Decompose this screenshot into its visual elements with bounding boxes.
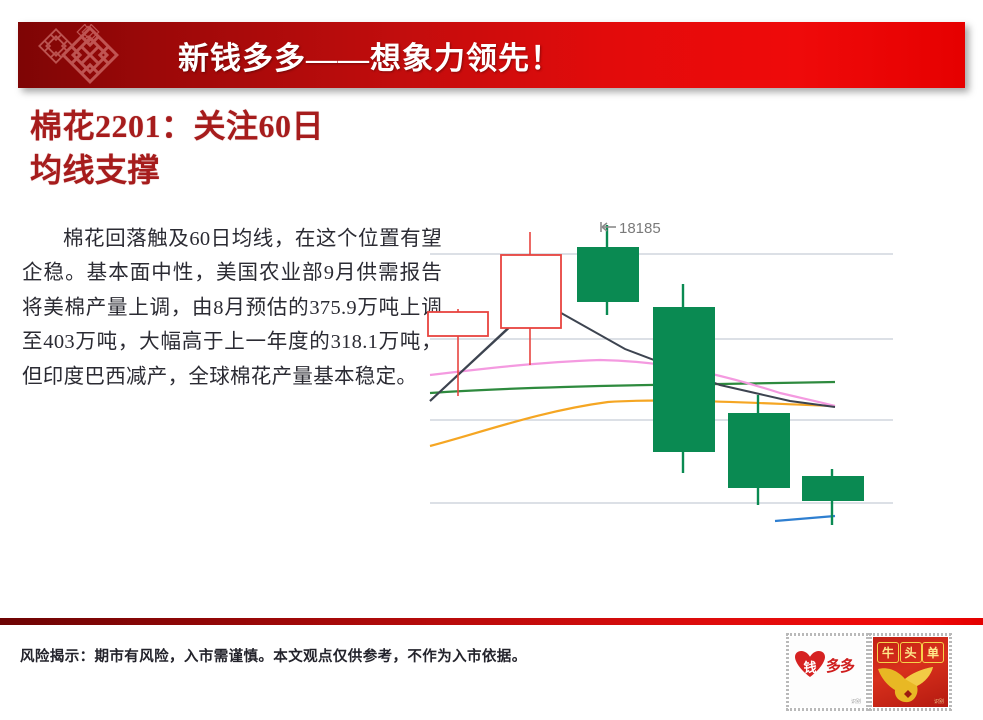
qr-left-corner: 识别 [851, 698, 861, 705]
risk-disclaimer: 风险揭示：期市有风险，入市需谨慎。本文观点仅供参考，不作为入市依据。 [20, 645, 527, 666]
chart-svg: 18185 [420, 185, 980, 535]
slide-page: 新钱多多——想象力领先！ 棉花2201：关注60日 均线支撑 棉花回落触及60日… [0, 0, 983, 720]
page-title-line1: 棉花2201：关注60日 [30, 104, 450, 148]
candle-1 [428, 309, 488, 396]
qr-qiandouduo[interactable]: 钱 多多 识别 [786, 633, 869, 711]
chinese-knot-diamond-logo [32, 24, 152, 86]
qr-right-corner: 识别 [934, 698, 944, 705]
qr-right-char-2: 单 [922, 642, 944, 663]
candle-6 [802, 469, 864, 525]
qr-left-text: 多多 [826, 655, 854, 676]
body-paragraph: 棉花回落触及60日均线，在这个位置有望企稳。基本面中性，美国农业部9月供需报告将… [22, 222, 442, 394]
candle-5 [728, 395, 790, 505]
candle-4 [653, 284, 715, 473]
page-title-line2: 均线支撑 [30, 148, 450, 192]
header-title: 新钱多多——想象力领先！ [178, 22, 562, 88]
candle-2 [501, 232, 561, 365]
candle-3 [577, 225, 639, 315]
qr-heart-char: 钱 [799, 657, 821, 676]
qr-inner-right: 牛 头 单 识别 [873, 637, 948, 707]
header-banner: 新钱多多——想象力领先！ [18, 22, 965, 88]
footer-divider [0, 618, 983, 625]
qr-right-chars: 牛 头 单 [877, 642, 944, 663]
page-title: 棉花2201：关注60日 均线支撑 [30, 104, 450, 192]
ma120-line [775, 516, 835, 521]
price-annotation-label: 18185 [619, 220, 661, 237]
qr-inner-left: 钱 多多 识别 [790, 637, 865, 707]
qr-right-char-0: 牛 [877, 642, 899, 663]
cotton-candlestick-chart: 18185 [420, 185, 980, 535]
price-annotation-18185: 18185 [601, 220, 661, 237]
qr-niutoudan[interactable]: 牛 头 单 识别 [869, 633, 952, 711]
qr-code-group: 钱 多多 识别 牛 头 单 识别 [786, 633, 961, 711]
qr-right-char-1: 头 [900, 642, 922, 663]
